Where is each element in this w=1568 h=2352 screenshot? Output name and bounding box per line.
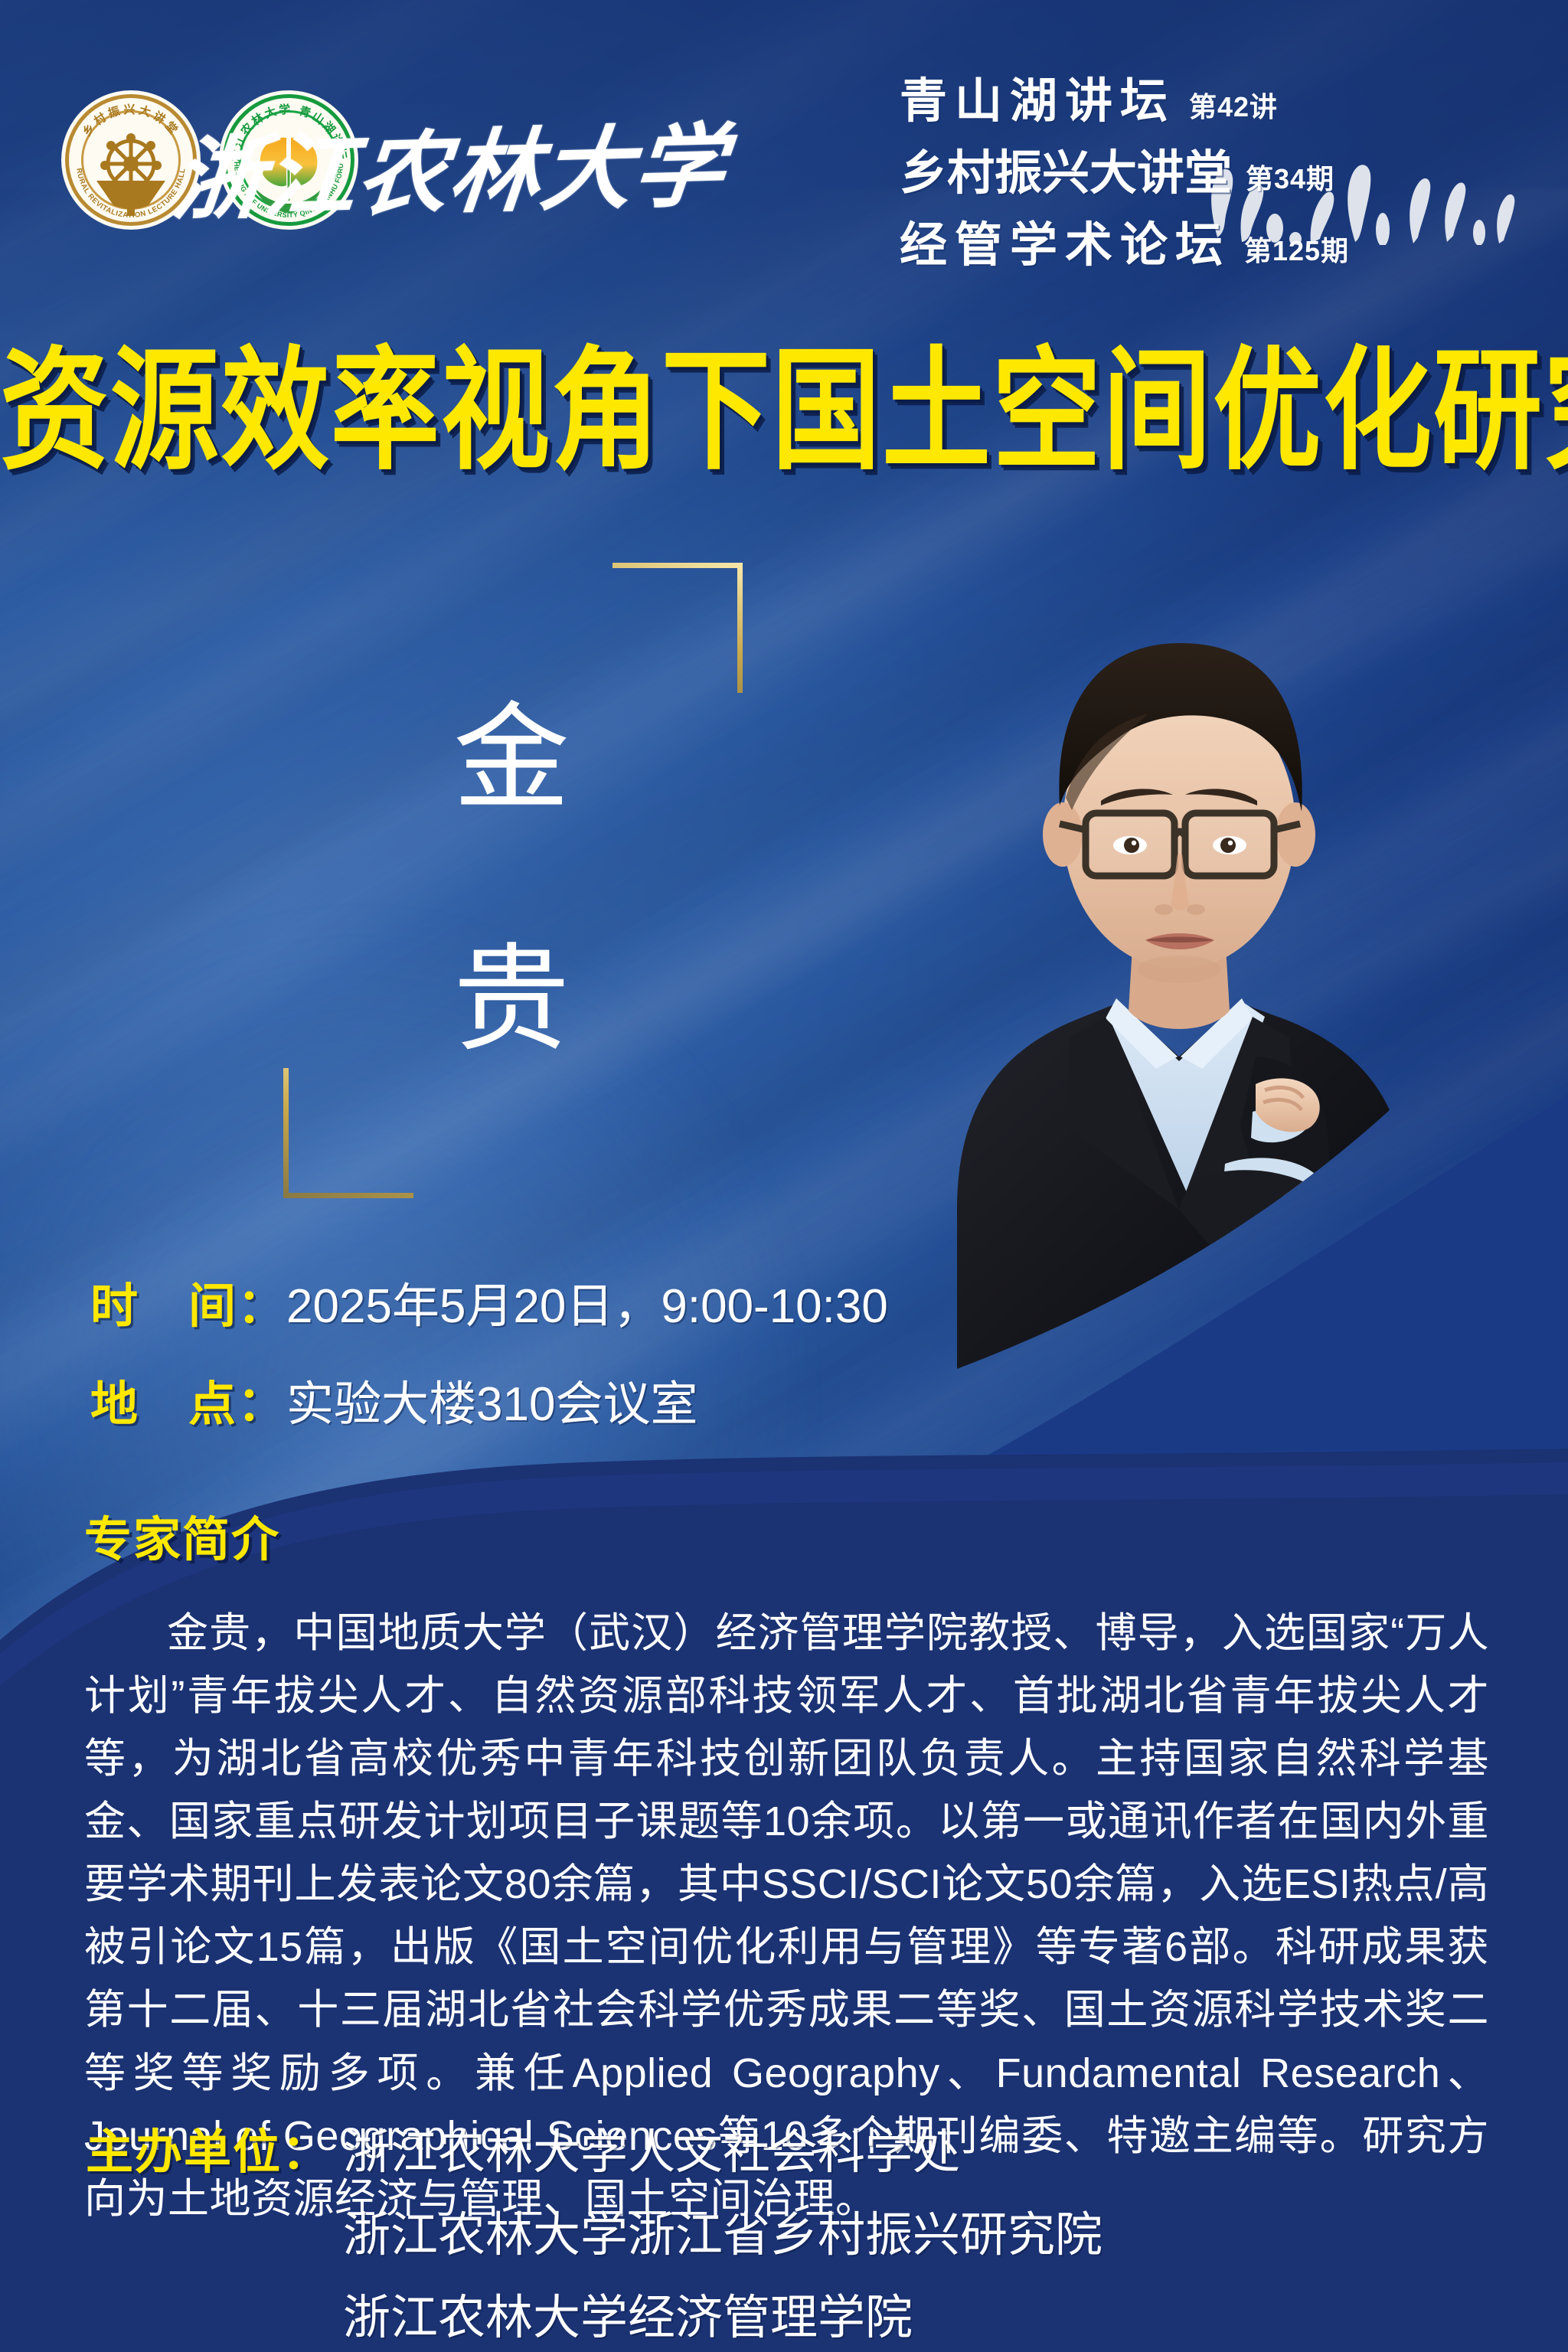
event-meta: 时 间： 2025年5月20日，9:00-10:30 地 点： 实验大楼310会… bbox=[90, 1267, 888, 1463]
organizers-list: 浙江农林大学人文社会科学处 浙江农林大学浙江省乡村振兴研究院 浙江农林大学经济管… bbox=[343, 2113, 1102, 2347]
speaker-photo-illustration bbox=[796, 521, 1501, 1424]
speaker-portrait bbox=[796, 521, 1501, 1424]
forum-row: 乡村振兴大讲堂 第34期 bbox=[900, 132, 1349, 198]
event-time-row: 时 间： 2025年5月20日，9:00-10:30 bbox=[90, 1267, 888, 1336]
organizers-label: 主办单位： bbox=[86, 2113, 331, 2182]
organizers-row: 主办单位： 浙江农林大学人文社会科学处 浙江农林大学浙江省乡村振兴研究院 浙江农… bbox=[86, 2113, 1102, 2347]
speaker-name-block: 金 贵 bbox=[283, 563, 743, 1198]
forum-number: 第125期 bbox=[1244, 237, 1349, 269]
corner-bracket-bottom-left bbox=[283, 1068, 413, 1198]
corner-bracket-top-right bbox=[612, 563, 743, 693]
event-time-value: 2025年5月20日，9:00-10:30 bbox=[286, 1267, 888, 1336]
speaker-name: 金 贵 bbox=[453, 699, 573, 1062]
organizer-item: 浙江农林大学人文社会科学处 bbox=[343, 2113, 1102, 2182]
forum-row: 青山湖讲坛 第42讲 bbox=[900, 60, 1349, 126]
event-location-label: 地 点： bbox=[90, 1365, 286, 1434]
university-name-calligraphy: 浙江农林大学 bbox=[205, 92, 695, 237]
event-location-value: 实验大楼310会议室 bbox=[286, 1365, 697, 1434]
forum-name: 乡村振兴大讲堂 bbox=[900, 150, 1232, 198]
lecture-poster: 乡村振兴大讲堂 RURAL REVITALIZATION LECTURE HAL… bbox=[0, 0, 1568, 2352]
expert-bio-heading: 专家简介 bbox=[84, 1501, 1489, 1570]
forum-number: 第42讲 bbox=[1189, 93, 1278, 126]
forum-name: 经管学术论坛 bbox=[900, 222, 1230, 269]
speaker-name-char: 金 bbox=[453, 699, 573, 822]
university-name-text: 浙江农林大学 bbox=[168, 92, 733, 237]
poster-header: 乡村振兴大讲堂 RURAL REVITALIZATION LECTURE HAL… bbox=[0, 0, 1568, 306]
speaker-name-char: 贵 bbox=[453, 940, 573, 1063]
event-time-label: 时 间： bbox=[90, 1267, 286, 1336]
forum-name: 青山湖讲坛 bbox=[900, 78, 1175, 126]
organizer-item: 浙江农林大学经济管理学院 bbox=[343, 2278, 1102, 2347]
forum-number: 第34期 bbox=[1246, 165, 1334, 198]
poster-title: 资源效率视角下国土空间优化研究 bbox=[0, 302, 1568, 495]
forum-series-list: 青山湖讲坛 第42讲 乡村振兴大讲堂 第34期 经管学术论坛 第125期 bbox=[900, 60, 1349, 276]
organizers-section: 主办单位： 浙江农林大学人文社会科学处 浙江农林大学浙江省乡村振兴研究院 浙江农… bbox=[86, 2113, 1102, 2347]
organizer-item: 浙江农林大学浙江省乡村振兴研究院 bbox=[343, 2196, 1102, 2265]
event-location-row: 地 点： 实验大楼310会议室 bbox=[90, 1365, 888, 1434]
forum-row: 经管学术论坛 第125期 bbox=[900, 204, 1349, 269]
